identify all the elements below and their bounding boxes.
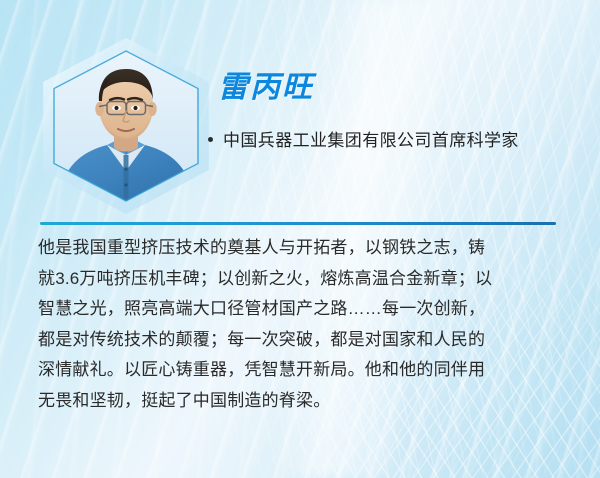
citation-line: 都是对传统技术的颠覆；每一次突破，都是对国家和人民的 xyxy=(38,325,566,356)
person-title-row: 中国兵器工业集团有限公司首席科学家 xyxy=(208,126,578,156)
person-title-text: 中国兵器工业集团有限公司首席科学家 xyxy=(223,126,519,156)
citation-line: 深情献礼。以匠心铸重器，凭智慧开新局。他和他的同伴用 xyxy=(38,355,566,386)
poster-canvas: 雷丙旺 中国兵器工业集团有限公司首席科学家 他是我国重型挤压技术的奠基人与开拓者… xyxy=(0,0,600,478)
citation-body: 他是我国重型挤压技术的奠基人与开拓者，以钢铁之志，铸 就3.6万吨挤压机丰碑；以… xyxy=(38,233,566,416)
bullet-dot-icon xyxy=(208,137,213,142)
citation-line: 智慧之光，照亮高端大口径管材国产之路……每一次创新， xyxy=(38,294,566,325)
citation-line: 他是我国重型挤压技术的奠基人与开拓者，以钢铁之志，铸 xyxy=(38,233,566,264)
citation-line: 就3.6万吨挤压机丰碑；以创新之火，熔炼高温合金新章；以 xyxy=(38,264,566,295)
avatar xyxy=(36,38,216,214)
section-divider xyxy=(40,222,556,225)
citation-line: 无畏和坚韧，挺起了中国制造的脊梁。 xyxy=(38,386,566,417)
person-name: 雷丙旺 xyxy=(218,70,314,106)
